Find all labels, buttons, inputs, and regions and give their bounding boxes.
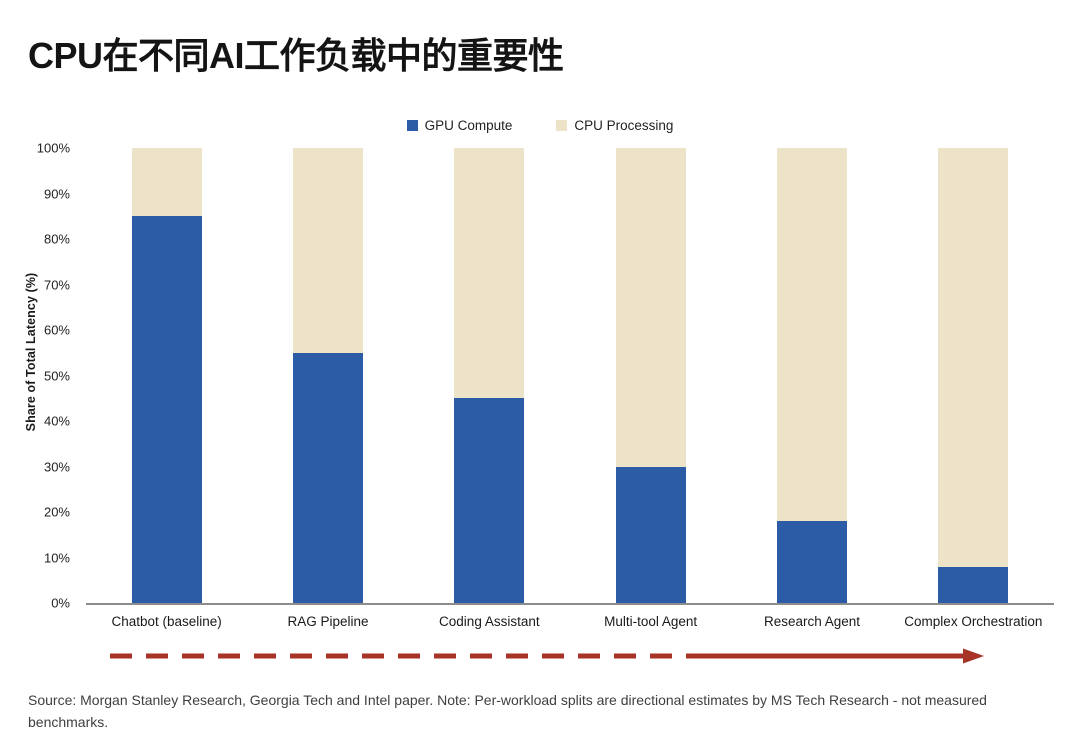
- bar-segment-cpu-processing[interactable]: [616, 148, 686, 467]
- y-axis-tick-label: 10%: [44, 550, 70, 565]
- y-axis-tick-label: 0%: [51, 596, 70, 611]
- x-axis-tick-label: RAG Pipeline: [287, 614, 368, 629]
- y-axis-tick-label: 100%: [37, 141, 70, 156]
- bar-group[interactable]: [132, 148, 202, 603]
- chart-plot-wrapper: Share of Total Latency (%) 0%10%20%30%40…: [0, 140, 1080, 610]
- y-axis-tick-label: 40%: [44, 414, 70, 429]
- bar-segment-gpu-compute[interactable]: [616, 467, 686, 604]
- y-axis-tick-label: 20%: [44, 505, 70, 520]
- bar-segment-cpu-processing[interactable]: [454, 148, 524, 398]
- square-swatch-icon: [556, 120, 567, 131]
- page-title: CPU在不同AI工作负载中的重要性: [28, 27, 564, 79]
- bar-segment-gpu-compute[interactable]: [132, 216, 202, 603]
- stacked-bar[interactable]: [293, 148, 363, 603]
- bar-group[interactable]: [293, 148, 363, 603]
- bar-segment-gpu-compute[interactable]: [293, 353, 363, 603]
- stacked-bar[interactable]: [938, 148, 1008, 603]
- right-arrow-icon: [108, 645, 988, 667]
- bar-segment-cpu-processing[interactable]: [938, 148, 1008, 567]
- y-axis-tick-label: 80%: [44, 232, 70, 247]
- y-axis-tick-label: 50%: [44, 368, 70, 383]
- bar-group[interactable]: [938, 148, 1008, 603]
- y-axis-tick-label: 30%: [44, 459, 70, 474]
- stacked-bar[interactable]: [616, 148, 686, 603]
- y-axis-ticks: 0%10%20%30%40%50%60%70%80%90%100%: [0, 140, 78, 603]
- legend-label: GPU Compute: [425, 118, 513, 133]
- bar-group[interactable]: [616, 148, 686, 603]
- x-axis-tick-label: Coding Assistant: [439, 614, 540, 629]
- legend-item-cpu-processing: CPU Processing: [556, 118, 673, 133]
- bars-container: [86, 148, 1054, 603]
- stacked-bar[interactable]: [132, 148, 202, 603]
- x-axis-line: [86, 603, 1054, 605]
- bar-segment-cpu-processing[interactable]: [132, 148, 202, 216]
- bar-segment-cpu-processing[interactable]: [777, 148, 847, 521]
- y-axis-tick-label: 90%: [44, 186, 70, 201]
- square-swatch-icon: [407, 120, 418, 131]
- legend-item-gpu-compute: GPU Compute: [407, 118, 513, 133]
- x-axis-tick-label: Chatbot (baseline): [111, 614, 221, 629]
- x-axis-tick-label: Complex Orchestration: [904, 614, 1042, 629]
- x-axis-labels: Chatbot (baseline)RAG PipelineCoding Ass…: [86, 614, 1054, 636]
- x-axis-tick-label: Multi-tool Agent: [604, 614, 697, 629]
- bar-segment-cpu-processing[interactable]: [293, 148, 363, 353]
- x-axis-tick-label: Research Agent: [764, 614, 860, 629]
- bar-segment-gpu-compute[interactable]: [938, 567, 1008, 603]
- y-axis-tick-label: 60%: [44, 323, 70, 338]
- stacked-bar[interactable]: [777, 148, 847, 603]
- bar-segment-gpu-compute[interactable]: [777, 521, 847, 603]
- bar-group[interactable]: [454, 148, 524, 603]
- legend-label: CPU Processing: [574, 118, 673, 133]
- bar-segment-gpu-compute[interactable]: [454, 398, 524, 603]
- source-note: Source: Morgan Stanley Research, Georgia…: [28, 690, 1052, 733]
- stacked-bar[interactable]: [454, 148, 524, 603]
- bar-group[interactable]: [777, 148, 847, 603]
- chart-legend: GPU Compute CPU Processing: [0, 118, 1080, 133]
- y-axis-tick-label: 70%: [44, 277, 70, 292]
